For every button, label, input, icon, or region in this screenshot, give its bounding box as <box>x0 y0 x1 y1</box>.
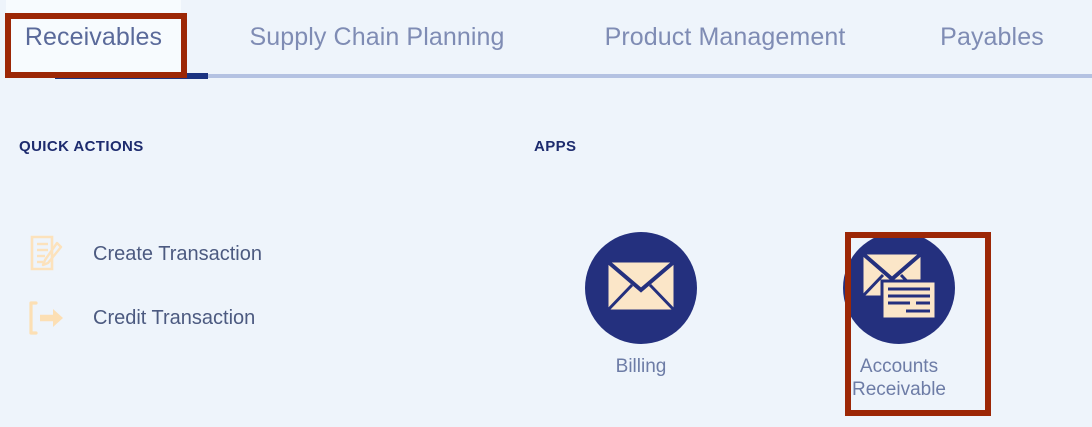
tab-payables[interactable]: Payables <box>932 0 1052 74</box>
app-accounts-receivable-label: Accounts Receivable <box>852 355 946 401</box>
document-pencil-icon <box>19 230 73 278</box>
quick-action-credit-transaction-label: Credit Transaction <box>93 307 255 330</box>
envelope-icon <box>605 259 677 318</box>
app-billing[interactable]: Billing <box>560 232 722 401</box>
tab-product-management[interactable]: Product Management <box>590 0 860 74</box>
tab-supply-chain-planning-label: Supply Chain Planning <box>249 23 504 52</box>
app-billing-label: Billing <box>616 355 667 378</box>
quick-action-create-transaction[interactable]: Create Transaction <box>19 222 349 286</box>
app-accounts-receivable-circle <box>843 232 955 344</box>
tab-receivables-label: Receivables <box>25 23 162 52</box>
quick-action-create-transaction-label: Create Transaction <box>93 243 262 266</box>
apps-list: Billing Accounts Receivable <box>560 232 980 401</box>
app-billing-circle <box>585 232 697 344</box>
quick-actions-heading: QUICK ACTIONS <box>19 138 144 155</box>
tab-active-indicator <box>55 73 208 79</box>
apps-heading: APPS <box>534 138 576 155</box>
tab-supply-chain-planning[interactable]: Supply Chain Planning <box>232 0 522 74</box>
tab-receivables[interactable]: Receivables <box>6 0 181 74</box>
app-accounts-receivable[interactable]: Accounts Receivable <box>818 232 980 401</box>
tab-payables-label: Payables <box>940 23 1044 52</box>
bracket-arrow-right-icon <box>19 294 73 342</box>
main-tab-bar: Receivables Supply Chain Planning Produc… <box>0 0 1092 81</box>
envelope-invoice-icon <box>860 251 938 326</box>
quick-actions-list: Create Transaction Credit Transaction <box>19 222 349 350</box>
quick-action-credit-transaction[interactable]: Credit Transaction <box>19 286 349 350</box>
tab-bar-divider <box>55 74 1092 78</box>
tab-product-management-label: Product Management <box>605 23 846 52</box>
